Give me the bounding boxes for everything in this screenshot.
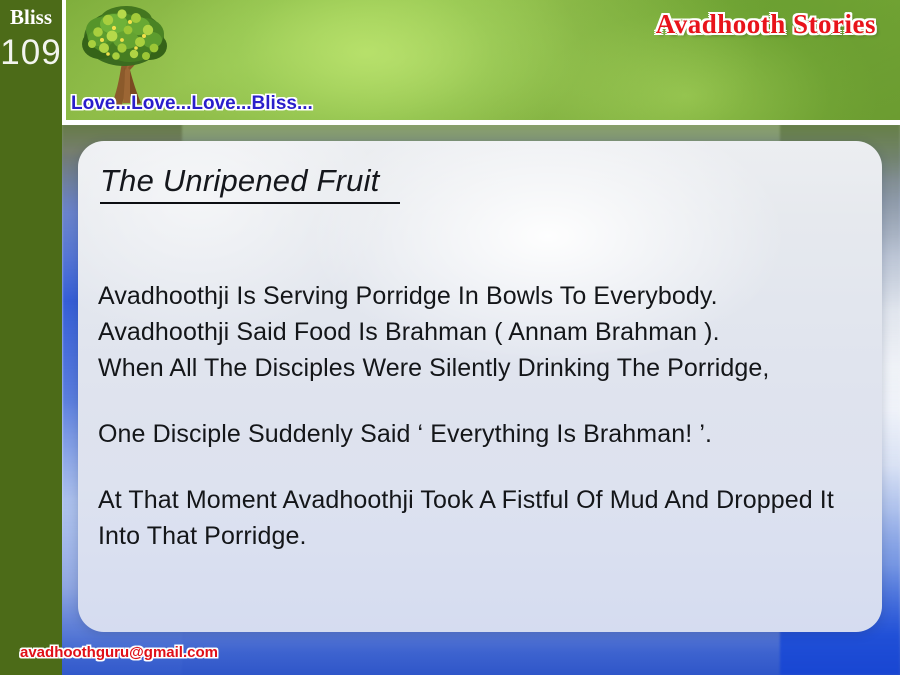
header-divider	[62, 120, 900, 125]
slide-root: Bliss 109	[0, 0, 900, 675]
story-paragraph-1: Avadhoothji Is Serving Porridge In Bowls…	[98, 278, 862, 386]
sidebar: Bliss 109	[0, 0, 62, 675]
story-line-1: Avadhoothji Is Serving Porridge In Bowls…	[98, 282, 718, 310]
header-band: Avadhooth Stories Love...Love...Love...B…	[66, 0, 900, 120]
sidebar-slide-number: 109	[0, 33, 62, 73]
footer-email: avadhoothguru@gmail.com	[20, 644, 218, 661]
content-card: The Unripened Fruit Avadhoothji Is Servi…	[78, 141, 882, 632]
story-paragraph-2: One Disciple Suddenly Said ‘ Everything …	[98, 416, 862, 452]
page-title: The Unripened Fruit	[100, 163, 380, 199]
title-underline	[100, 202, 400, 204]
brand-title: Avadhooth Stories	[656, 9, 876, 40]
story-line-4: One Disciple Suddenly Said ‘ Everything …	[98, 420, 712, 448]
story-line-2: Avadhoothji Said Food Is Brahman ( Annam…	[98, 318, 720, 346]
sidebar-title: Bliss	[0, 5, 62, 30]
header-tagline: Love...Love...Love...Bliss...	[71, 93, 313, 115]
story-line-5: At That Moment Avadhoothji Took A Fistfu…	[98, 486, 834, 550]
story-paragraph-3: At That Moment Avadhoothji Took A Fistfu…	[98, 482, 862, 554]
story-line-3: When All The Disciples Were Silently Dri…	[98, 354, 769, 382]
story-body: Avadhoothji Is Serving Porridge In Bowls…	[98, 278, 862, 554]
